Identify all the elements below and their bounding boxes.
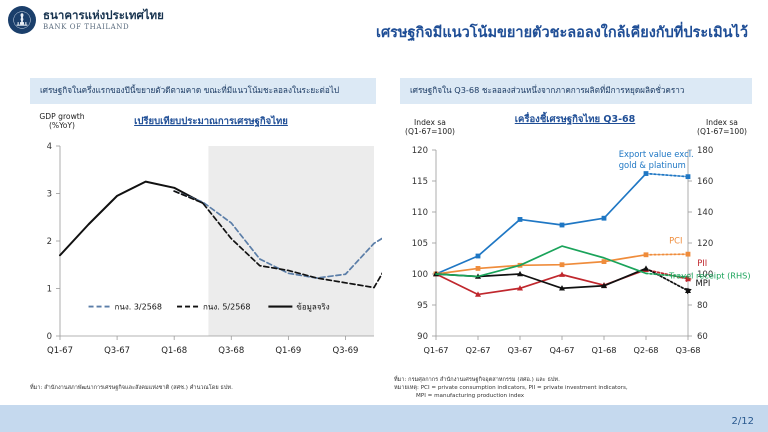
svg-text:กนง. 3/2568: กนง. 3/2568 bbox=[115, 303, 162, 312]
page-number: 2/12 bbox=[732, 416, 754, 427]
svg-text:95: 95 bbox=[417, 301, 428, 311]
left-chart-source: ที่มา: สำนักงานสภาพัฒนาการเศรษฐกิจและสัง… bbox=[30, 384, 380, 392]
callout-right: เศรษฐกิจใน Q3-68 ชะลอลงส่วนหนึ่งจากภาคกา… bbox=[400, 78, 752, 104]
right-chart-left-axis-caption-1: Index sa bbox=[392, 118, 468, 127]
svg-text:2: 2 bbox=[47, 237, 52, 247]
svg-text:Q2-67: Q2-67 bbox=[465, 345, 490, 355]
svg-text:Q1-68: Q1-68 bbox=[591, 345, 616, 355]
svg-text:Q3-69: Q3-69 bbox=[332, 346, 358, 356]
page-title: เศรษฐกิจมีแนวโน้มขยายตัวชะลอลงใกล้เคียงก… bbox=[360, 24, 764, 42]
svg-text:กนง. 5/2568: กนง. 5/2568 bbox=[203, 303, 250, 312]
right-chart-source-text: ที่มา: กรมศุลกากร สำนักงานเศรษฐกิจอุตสาห… bbox=[394, 376, 762, 384]
left-chart-source-text: ที่มา: สำนักงานสภาพัฒนาการเศรษฐกิจและสัง… bbox=[30, 385, 233, 391]
svg-text:Q2-68: Q2-68 bbox=[633, 345, 658, 355]
svg-text:Q1-67: Q1-67 bbox=[423, 345, 448, 355]
left-chart-axis-caption-1: GDP growth bbox=[26, 112, 98, 121]
svg-text:gold & platinum: gold & platinum bbox=[619, 160, 686, 170]
svg-text:110: 110 bbox=[412, 208, 428, 218]
svg-text:Travel receipt (RHS): Travel receipt (RHS) bbox=[668, 270, 750, 280]
svg-text:PII: PII bbox=[697, 258, 707, 268]
brand-logo: ธนาคารแห่งประเทศไทย BANK OF THAILAND bbox=[8, 6, 164, 34]
svg-text:Q3-68: Q3-68 bbox=[218, 346, 244, 356]
brand-name-english: BANK OF THAILAND bbox=[43, 23, 164, 31]
right-chart-note-1: หมายเหตุ: PCI = private consumption indi… bbox=[394, 384, 762, 392]
right-chart-right-axis-caption-2: (Q1-67=100) bbox=[684, 127, 760, 136]
svg-text:Q1-67: Q1-67 bbox=[47, 346, 73, 356]
svg-text:120: 120 bbox=[412, 146, 428, 156]
left-chart-plot: 01234Q1-67Q3-67Q1-68Q3-68Q1-69Q3-69กนง. … bbox=[22, 138, 382, 388]
svg-text:Q3-67: Q3-67 bbox=[507, 345, 532, 355]
brand-name-thai: ธนาคารแห่งประเทศไทย bbox=[43, 9, 164, 22]
svg-text:90: 90 bbox=[417, 332, 428, 342]
svg-text:115: 115 bbox=[412, 177, 428, 187]
right-chart-note-2: MPI = manufacturing production index bbox=[394, 392, 762, 400]
left-chart-title: เปรียบเทียบประมาณการเศรษฐกิจไทย bbox=[106, 114, 316, 129]
panel-economic-indicators: Index sa (Q1-67=100) Index sa (Q1-67=100… bbox=[388, 112, 762, 402]
svg-text:Q3-68: Q3-68 bbox=[675, 345, 700, 355]
svg-text:Q4-67: Q4-67 bbox=[549, 345, 574, 355]
right-chart-title: เครื่องชี้เศรษฐกิจไทย Q3-68 bbox=[470, 112, 680, 127]
right-chart-right-axis-caption-1: Index sa bbox=[684, 118, 760, 127]
svg-text:3: 3 bbox=[47, 190, 52, 200]
svg-text:100: 100 bbox=[412, 270, 428, 280]
svg-text:140: 140 bbox=[697, 208, 713, 218]
callout-left: เศรษฐกิจในครึ่งแรกของปีนี้ขยายตัวดีตามคา… bbox=[30, 78, 376, 104]
svg-text:60: 60 bbox=[697, 332, 708, 342]
left-chart-axis-caption-2: (%YoY) bbox=[26, 121, 98, 130]
svg-text:PCI: PCI bbox=[669, 236, 682, 246]
svg-text:0: 0 bbox=[47, 332, 52, 342]
svg-text:105: 105 bbox=[412, 239, 428, 249]
right-chart-plot: 90951001051101151206080100120140160180Q1… bbox=[388, 140, 762, 388]
svg-text:180: 180 bbox=[697, 146, 713, 156]
callout-left-text: เศรษฐกิจในครึ่งแรกของปีนี้ขยายตัวดีตามคา… bbox=[40, 85, 339, 96]
svg-text:4: 4 bbox=[47, 142, 52, 152]
svg-text:Q3-67: Q3-67 bbox=[104, 346, 130, 356]
svg-text:Q1-68: Q1-68 bbox=[161, 346, 187, 356]
svg-text:Q1-69: Q1-69 bbox=[275, 346, 301, 356]
svg-text:ข้อมูลจริง: ข้อมูลจริง bbox=[296, 303, 329, 313]
svg-text:160: 160 bbox=[697, 177, 713, 187]
right-chart-source: ที่มา: กรมศุลกากร สำนักงานเศรษฐกิจอุตสาห… bbox=[394, 376, 762, 400]
svg-text:1: 1 bbox=[47, 285, 52, 295]
footer-bar bbox=[0, 405, 768, 432]
slide-root: ธนาคารแห่งประเทศไทย BANK OF THAILAND เศร… bbox=[0, 0, 768, 432]
right-chart-left-axis-caption-2: (Q1-67=100) bbox=[392, 127, 468, 136]
svg-text:120: 120 bbox=[697, 239, 713, 249]
bank-of-thailand-seal-icon bbox=[8, 6, 36, 34]
callout-right-text: เศรษฐกิจใน Q3-68 ชะลอลงส่วนหนึ่งจากภาคกา… bbox=[410, 85, 685, 96]
panel-gdp-forecast: GDP growth (%YoY) เปรียบเทียบประมาณการเศ… bbox=[22, 112, 382, 402]
svg-text:Export value excl.: Export value excl. bbox=[619, 149, 694, 159]
svg-text:80: 80 bbox=[697, 301, 708, 311]
